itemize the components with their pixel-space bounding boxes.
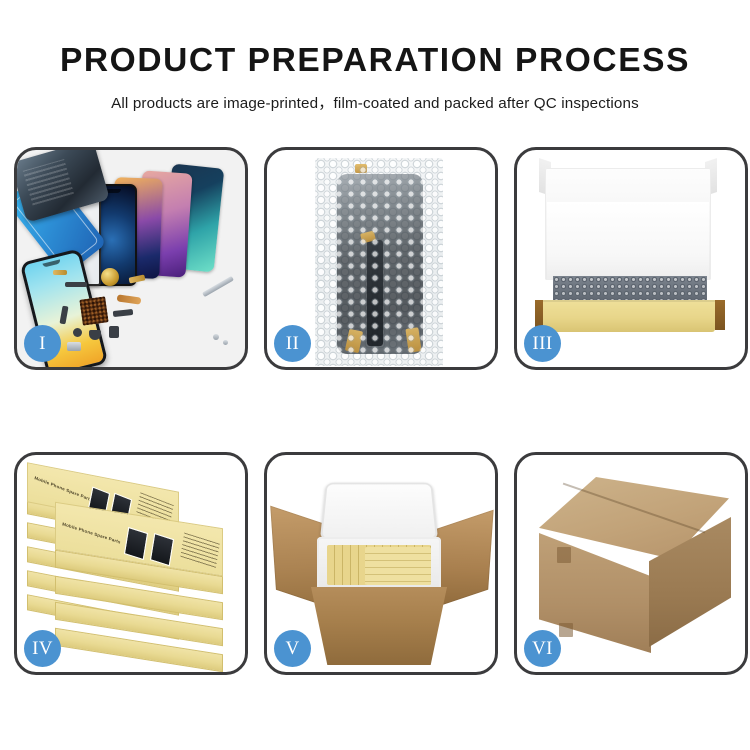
wrapped-screen-assembly	[337, 174, 423, 354]
step-panel-2: II	[264, 147, 498, 370]
tape-piece-bottom-right-icon	[405, 327, 421, 353]
part-screw-2-icon	[223, 340, 228, 345]
cardboard-carton-body	[311, 587, 447, 665]
tape-piece-mid-icon	[360, 230, 376, 243]
tape-piece-top-icon	[355, 164, 367, 173]
step-panel-6: VI	[514, 452, 748, 675]
packed-yellow-boxes-secondary	[365, 547, 431, 585]
box-tray-end-right	[715, 300, 725, 330]
step-badge-5: V	[274, 630, 311, 667]
carton-tape-upper	[557, 547, 571, 563]
steps-grid: I II	[14, 147, 736, 675]
part-gold-strip-icon	[53, 270, 67, 275]
white-foam-liner	[547, 202, 709, 280]
chip-array-icon	[79, 296, 108, 325]
step-panel-5: V	[264, 452, 498, 675]
step-badge-2: II	[274, 325, 311, 362]
box-brand-text: Mobile Phone Spare Parts	[62, 521, 121, 544]
header: PRODUCT PREPARATION PROCESS All products…	[0, 0, 750, 113]
step-panel-4: Mobile Phone Spare Parts Mobile Phone Sp…	[14, 452, 248, 675]
step-badge-1: I	[24, 325, 61, 362]
box-brand-text: Mobile Phone Spare Parts	[34, 475, 93, 502]
product-preparation-infographic: PRODUCT PREPARATION PROCESS All products…	[0, 0, 750, 750]
page-title: PRODUCT PREPARATION PROCESS	[0, 0, 750, 80]
part-camera-icon	[73, 328, 82, 337]
carton-tape-lower	[559, 623, 573, 637]
foam-box-lid	[320, 483, 438, 541]
step-badge-6: VI	[524, 630, 561, 667]
screwdriver-icon	[202, 276, 234, 297]
part-speaker-icon	[65, 282, 87, 287]
part-flex-cable-icon	[117, 294, 142, 304]
box-photo-thumb	[150, 533, 174, 566]
part-screw-icon	[213, 334, 219, 340]
yellow-box-tray-front	[543, 300, 715, 332]
box-spec-lines	[180, 533, 220, 569]
step-panel-3: III	[514, 147, 748, 370]
step-badge-4: IV	[24, 630, 61, 667]
step-panel-1: I	[14, 147, 248, 370]
vibration-motor-icon	[101, 268, 119, 286]
part-sim-tray-icon	[67, 342, 81, 351]
part-flex-cable-2-icon	[113, 309, 134, 317]
box-photo-thumb	[124, 527, 148, 560]
page-subtitle: All products are image-printed，film-coat…	[0, 80, 750, 113]
phone-front-notch-icon	[42, 259, 60, 267]
wrapped-flex-cable	[367, 240, 383, 346]
step-badge-3: III	[524, 325, 561, 362]
bubble-wrap-bag	[315, 158, 443, 366]
tape-piece-bottom-left-icon	[345, 329, 363, 353]
part-button-icon	[109, 326, 119, 338]
